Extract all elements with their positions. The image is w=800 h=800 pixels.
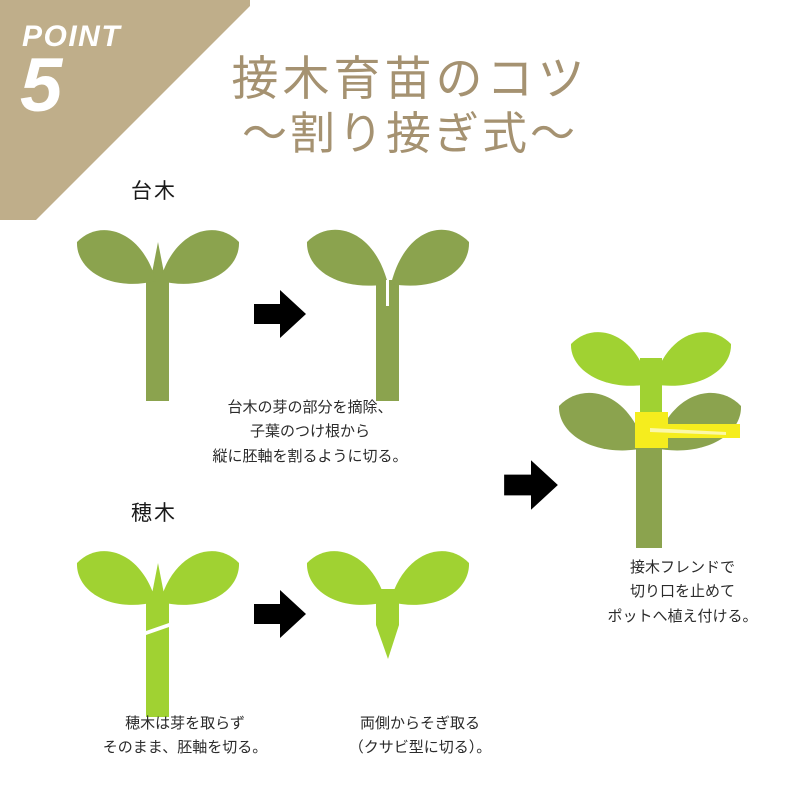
rootstock-cut-leaf-left	[307, 230, 388, 286]
infographic-page: POINT 5 接木育苗のコツ ～割り接ぎ式～ 台木 穂木 台木の芽の部分を摘除…	[0, 0, 800, 800]
grafted-rootstock-leaf-left	[559, 393, 645, 451]
scion-wedge-leaf-right	[390, 551, 469, 605]
rootstock-stem	[146, 274, 169, 401]
caption-scion-line-1: 穂木は芽を取らず	[60, 712, 310, 736]
scion-wedge-leaf-left	[307, 551, 386, 605]
title-line-primary: 接木育苗のコツ	[190, 52, 630, 107]
caption-graft-line-3: ポットへ植え付ける。	[575, 605, 790, 629]
rootstock-cut-leaf-right	[391, 230, 469, 286]
scion-stem	[146, 595, 169, 717]
caption-wedge-line-1: 両側からそぎ取る	[305, 712, 535, 736]
grafted-scion-leaf-left	[571, 332, 649, 386]
rootstock-leaf-left	[77, 230, 156, 284]
caption-graft-line-1: 接木フレンドで	[575, 556, 790, 580]
figure-rootstock-cut	[300, 206, 480, 406]
caption-rootstock-line-2: 子葉のつけ根から	[180, 420, 440, 444]
figure-scion-whole	[70, 527, 250, 717]
caption-scion: 穂木は芽を取らず そのまま、胚軸を切る。	[60, 712, 310, 761]
caption-wedge-line-2: （クサビ型に切る）。	[305, 736, 535, 760]
caption-scion-line-2: そのまま、胚軸を切る。	[60, 736, 310, 760]
rootstock-split-line	[386, 280, 389, 306]
title-line-subtitle: ～割り接ぎ式～	[190, 107, 630, 160]
section-label-rootstock: 台木	[131, 175, 177, 205]
caption-rootstock-line-1: 台木の芽の部分を摘除、	[180, 396, 440, 420]
caption-rootstock: 台木の芽の部分を摘除、 子葉のつけ根から 縦に胚軸を割るように切る。	[180, 396, 440, 469]
figure-rootstock-whole	[70, 206, 250, 406]
caption-graft-line-2: 切り口を止めて	[575, 580, 790, 604]
page-title: 接木育苗のコツ ～割り接ぎ式～	[190, 52, 630, 161]
rootstock-leaf-right	[160, 230, 239, 284]
caption-wedge: 両側からそぎ取る （クサビ型に切る）。	[305, 712, 535, 761]
caption-rootstock-line-3: 縦に胚軸を割るように切る。	[180, 445, 440, 469]
grafted-scion-leaf-right	[653, 332, 731, 386]
figure-scion-wedge	[300, 527, 480, 687]
scion-leaf-left	[77, 551, 156, 605]
scion-wedge-stem	[376, 589, 399, 659]
caption-graft: 接木フレンドで 切り口を止めて ポットへ植え付ける。	[575, 556, 790, 629]
section-label-scion: 穂木	[131, 497, 177, 527]
figure-grafted-plant	[550, 300, 782, 552]
banner-point-number: 5	[20, 48, 62, 124]
scion-leaf-right	[160, 551, 239, 605]
